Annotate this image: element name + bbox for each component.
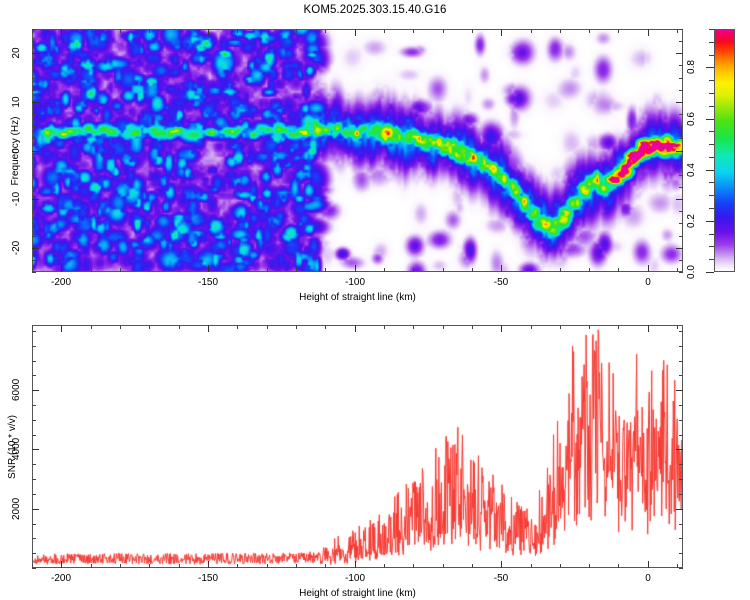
minor-tick — [560, 268, 561, 272]
minor-tick — [413, 564, 414, 568]
minor-tick — [679, 494, 683, 495]
major-tick — [32, 53, 39, 54]
major-tick — [648, 561, 649, 568]
minor-tick — [32, 163, 36, 164]
colorbar-tick-label: 0.0 — [685, 260, 699, 284]
colorbar-minor-tick — [709, 182, 714, 183]
figure-title: KOM5.2025.303.15.40.G16 — [0, 4, 750, 16]
minor-tick — [679, 361, 683, 362]
colorbar-minor-tick — [709, 259, 714, 260]
major-tick — [648, 265, 649, 272]
colorbar-minor-tick — [709, 234, 714, 235]
minor-tick — [32, 479, 36, 480]
minor-tick — [296, 29, 297, 33]
minor-tick — [679, 236, 683, 237]
minor-tick — [91, 29, 92, 33]
minor-tick — [618, 564, 619, 568]
colorbar-major-tick — [706, 67, 714, 68]
minor-tick — [149, 325, 150, 329]
major-tick — [32, 509, 39, 510]
minor-tick — [32, 78, 36, 79]
minor-tick — [589, 29, 590, 33]
minor-tick — [531, 564, 532, 568]
major-tick — [208, 561, 209, 568]
minor-tick — [296, 268, 297, 272]
minor-tick — [618, 325, 619, 329]
minor-tick — [32, 405, 36, 406]
minor-tick — [443, 564, 444, 568]
major-tick — [32, 248, 39, 249]
minor-tick — [32, 538, 36, 539]
minor-tick — [560, 29, 561, 33]
x-tick-label: 0 — [645, 573, 651, 584]
minor-tick — [120, 268, 121, 272]
minor-tick — [589, 325, 590, 329]
minor-tick — [149, 268, 150, 272]
minor-tick — [32, 420, 36, 421]
x-tick-label: -150 — [198, 277, 218, 288]
minor-tick — [32, 211, 36, 212]
minor-tick — [384, 325, 385, 329]
minor-tick — [237, 564, 238, 568]
minor-tick — [679, 420, 683, 421]
minor-tick — [267, 564, 268, 568]
colorbar-minor-tick — [709, 106, 714, 107]
minor-tick — [679, 524, 683, 525]
minor-tick — [325, 564, 326, 568]
minor-tick — [32, 375, 36, 376]
minor-tick — [679, 90, 683, 91]
colorbar-gradient — [714, 29, 735, 272]
colorbar-minor-tick — [709, 93, 714, 94]
minor-tick — [413, 268, 414, 272]
minor-tick — [91, 268, 92, 272]
major-tick — [676, 199, 683, 200]
minor-tick — [32, 494, 36, 495]
minor-tick — [679, 331, 683, 332]
major-tick — [676, 509, 683, 510]
x-tick-label: -200 — [51, 573, 71, 584]
minor-tick — [472, 29, 473, 33]
major-tick — [208, 325, 209, 332]
x-tick-label: -100 — [345, 277, 365, 288]
minor-tick — [679, 126, 683, 127]
minor-tick — [267, 29, 268, 33]
minor-tick — [679, 405, 683, 406]
snr-trace — [33, 326, 683, 568]
y-tick-label: 20 — [10, 42, 24, 64]
minor-tick — [120, 564, 121, 568]
minor-tick — [679, 464, 683, 465]
minor-tick — [32, 325, 33, 329]
minor-tick — [679, 65, 683, 66]
figure-root: KOM5.2025.303.15.40.G16 -200-150-100-500… — [0, 0, 750, 600]
minor-tick — [32, 346, 36, 347]
minor-tick — [679, 114, 683, 115]
x-tick-label: -50 — [494, 277, 508, 288]
minor-tick — [325, 29, 326, 33]
colorbar-tick-label: 0.6 — [685, 107, 699, 131]
major-tick — [648, 29, 649, 36]
major-tick — [32, 199, 39, 200]
minor-tick — [32, 175, 36, 176]
major-tick — [648, 325, 649, 332]
minor-tick — [677, 268, 678, 272]
colorbar-minor-tick — [709, 157, 714, 158]
colorbar-major-tick — [706, 119, 714, 120]
minor-tick — [531, 29, 532, 33]
minor-tick — [32, 464, 36, 465]
minor-tick — [679, 41, 683, 42]
minor-tick — [32, 41, 36, 42]
minor-tick — [679, 138, 683, 139]
minor-tick — [179, 564, 180, 568]
major-tick — [501, 29, 502, 36]
major-tick — [501, 265, 502, 272]
major-tick — [676, 248, 683, 249]
minor-tick — [32, 568, 36, 569]
minor-tick — [296, 325, 297, 329]
minor-tick — [32, 272, 36, 273]
major-tick — [355, 561, 356, 568]
minor-tick — [267, 268, 268, 272]
major-tick — [676, 390, 683, 391]
minor-tick — [472, 268, 473, 272]
major-tick — [676, 151, 683, 152]
colorbar-major-tick — [706, 170, 714, 171]
x-tick-label: -50 — [494, 573, 508, 584]
colorbar-major-tick — [706, 221, 714, 222]
minor-tick — [179, 29, 180, 33]
minor-tick — [179, 268, 180, 272]
minor-tick — [679, 553, 683, 554]
spectrogram-plot-area — [32, 29, 683, 272]
minor-tick — [296, 564, 297, 568]
major-tick — [61, 325, 62, 332]
x-tick-label: -150 — [198, 573, 218, 584]
minor-tick — [679, 175, 683, 176]
colorbar-tick-label: 0.4 — [685, 158, 699, 182]
colorbar-minor-tick — [709, 195, 714, 196]
major-tick — [61, 265, 62, 272]
snr-yaxis-label: SNR (10 * v/v) — [6, 382, 20, 512]
major-tick — [355, 325, 356, 332]
minor-tick — [560, 564, 561, 568]
minor-tick — [589, 564, 590, 568]
minor-tick — [413, 29, 414, 33]
minor-tick — [32, 126, 36, 127]
minor-tick — [618, 268, 619, 272]
spectrogram-image — [33, 30, 683, 272]
major-tick — [32, 151, 39, 152]
colorbar-tick-label: 0.8 — [685, 55, 699, 79]
major-tick — [208, 265, 209, 272]
minor-tick — [679, 435, 683, 436]
minor-tick — [325, 268, 326, 272]
minor-tick — [32, 260, 36, 261]
minor-tick — [149, 564, 150, 568]
minor-tick — [618, 29, 619, 33]
y-tick-label: -20 — [10, 237, 24, 259]
colorbar-minor-tick — [709, 144, 714, 145]
minor-tick — [179, 325, 180, 329]
minor-tick — [91, 564, 92, 568]
minor-tick — [679, 29, 683, 30]
major-tick — [32, 390, 39, 391]
minor-tick — [413, 325, 414, 329]
minor-tick — [32, 29, 36, 30]
minor-tick — [237, 325, 238, 329]
minor-tick — [677, 29, 678, 33]
colorbar-major-tick — [706, 272, 714, 273]
major-tick — [61, 561, 62, 568]
minor-tick — [443, 268, 444, 272]
x-tick-label: -100 — [345, 573, 365, 584]
spectrogram-yaxis-label: Frequency (Hz) — [9, 91, 23, 211]
major-tick — [208, 29, 209, 36]
minor-tick — [32, 331, 36, 332]
major-tick — [355, 265, 356, 272]
minor-tick — [443, 29, 444, 33]
major-tick — [501, 561, 502, 568]
minor-tick — [32, 187, 36, 188]
minor-tick — [679, 78, 683, 79]
minor-tick — [679, 568, 683, 569]
minor-tick — [32, 236, 36, 237]
minor-tick — [149, 29, 150, 33]
minor-tick — [531, 268, 532, 272]
colorbar-minor-tick — [709, 131, 714, 132]
minor-tick — [237, 268, 238, 272]
x-tick-label: -200 — [51, 277, 71, 288]
minor-tick — [679, 211, 683, 212]
colorbar-minor-tick — [709, 55, 714, 56]
minor-tick — [679, 260, 683, 261]
colorbar-tick-label: 0.2 — [685, 209, 699, 233]
colorbar-minor-tick — [709, 246, 714, 247]
minor-tick — [32, 138, 36, 139]
minor-tick — [237, 29, 238, 33]
minor-tick — [32, 90, 36, 91]
minor-tick — [267, 325, 268, 329]
minor-tick — [679, 272, 683, 273]
minor-tick — [32, 553, 36, 554]
minor-tick — [120, 29, 121, 33]
minor-tick — [472, 564, 473, 568]
major-tick — [61, 29, 62, 36]
minor-tick — [677, 325, 678, 329]
major-tick — [355, 29, 356, 36]
minor-tick — [32, 114, 36, 115]
snr-xaxis-label: Height of straight line (km) — [299, 588, 416, 599]
major-tick — [32, 102, 39, 103]
major-tick — [676, 53, 683, 54]
colorbar-minor-tick — [709, 42, 714, 43]
minor-tick — [472, 325, 473, 329]
minor-tick — [679, 346, 683, 347]
minor-tick — [679, 375, 683, 376]
minor-tick — [531, 325, 532, 329]
colorbar-minor-tick — [709, 80, 714, 81]
major-tick — [676, 102, 683, 103]
minor-tick — [32, 435, 36, 436]
major-tick — [676, 449, 683, 450]
minor-tick — [32, 361, 36, 362]
major-tick — [501, 325, 502, 332]
minor-tick — [677, 564, 678, 568]
major-tick — [32, 449, 39, 450]
spectrogram-xaxis-label: Height of straight line (km) — [299, 292, 416, 303]
colorbar-minor-tick — [709, 208, 714, 209]
snr-plot-area — [32, 325, 683, 568]
x-tick-label: 0 — [645, 277, 651, 288]
minor-tick — [384, 268, 385, 272]
minor-tick — [384, 564, 385, 568]
minor-tick — [443, 325, 444, 329]
minor-tick — [32, 524, 36, 525]
minor-tick — [589, 268, 590, 272]
minor-tick — [325, 325, 326, 329]
minor-tick — [679, 163, 683, 164]
minor-tick — [679, 479, 683, 480]
minor-tick — [560, 325, 561, 329]
colorbar-minor-tick — [709, 29, 714, 30]
minor-tick — [91, 325, 92, 329]
minor-tick — [120, 325, 121, 329]
minor-tick — [679, 223, 683, 224]
minor-tick — [384, 29, 385, 33]
minor-tick — [32, 223, 36, 224]
minor-tick — [679, 538, 683, 539]
minor-tick — [32, 65, 36, 66]
minor-tick — [679, 187, 683, 188]
